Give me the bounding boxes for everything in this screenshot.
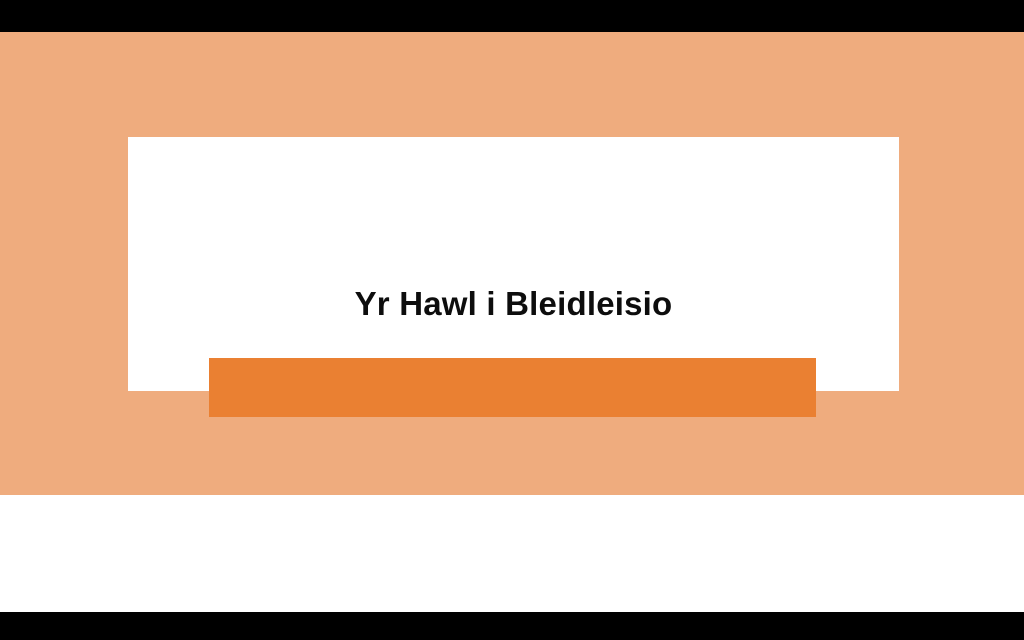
accent-bar xyxy=(209,358,816,417)
letterbox-bottom xyxy=(0,612,1024,640)
page-title: Yr Hawl i Bleidleisio xyxy=(128,287,899,320)
footer-band: The Electoral Commission GWASANAETHAU ET… xyxy=(0,495,1024,612)
slide-root: Yr Hawl i Bleidleisio The Electoral Comm… xyxy=(0,0,1024,640)
letterbox-top xyxy=(0,0,1024,32)
slide-canvas: Yr Hawl i Bleidleisio The Electoral Comm… xyxy=(0,32,1024,612)
title-card xyxy=(128,137,899,391)
